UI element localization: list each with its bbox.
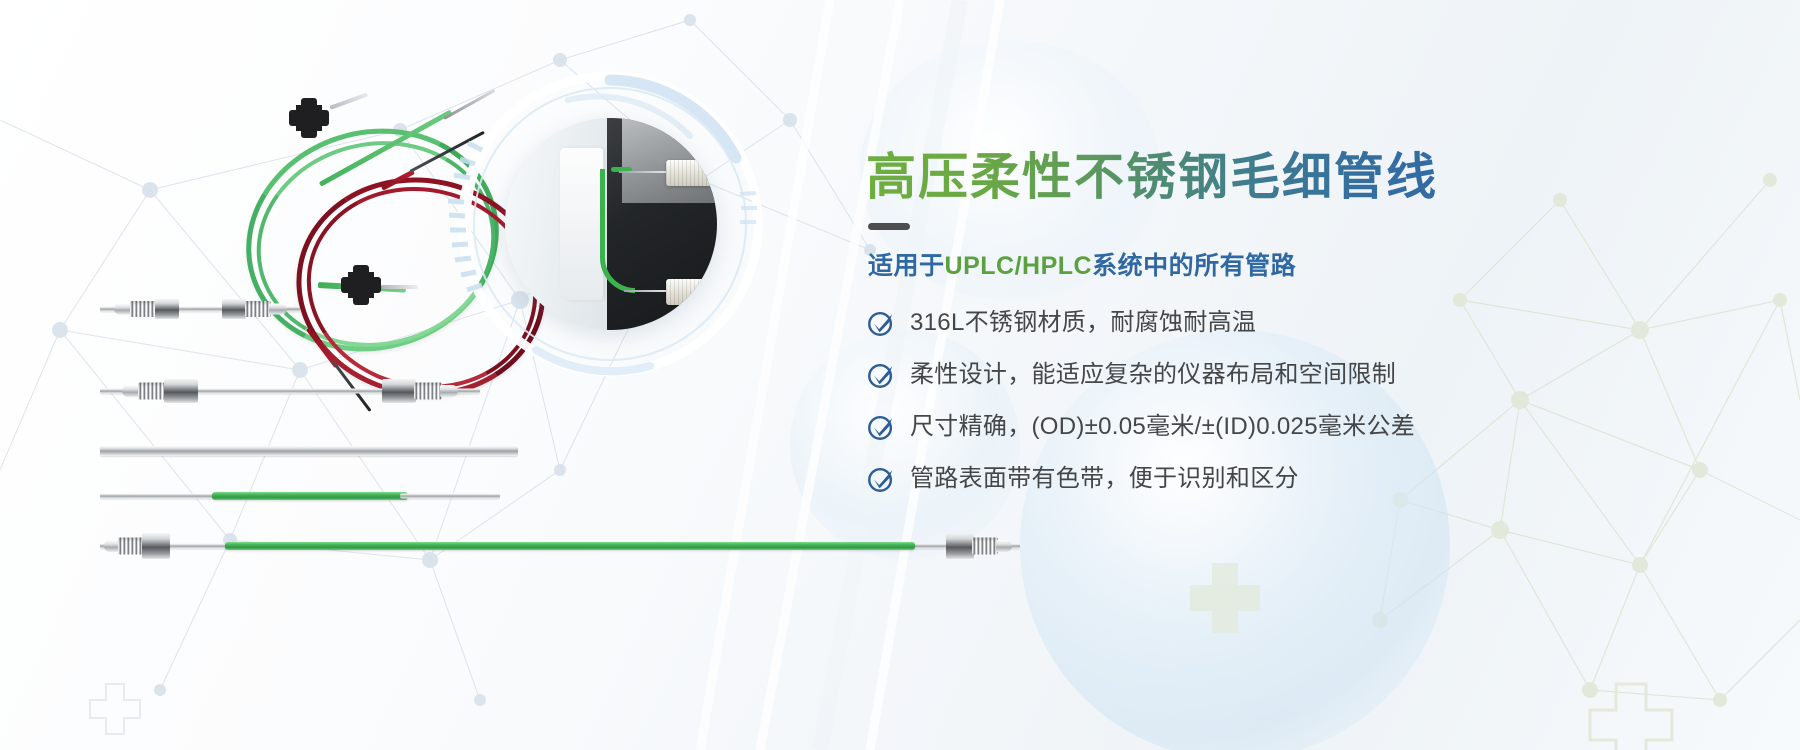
list-item: 柔性设计，能适应复杂的仪器布局和空间限制: [866, 358, 1746, 392]
green-band: [212, 492, 408, 500]
nut-left: [164, 379, 198, 403]
plus-mark-filled: [1190, 563, 1260, 633]
photo-green-tubing: [600, 169, 635, 293]
photo-content: [505, 118, 717, 330]
steel-stub-right: [382, 285, 418, 289]
nut-right: [946, 533, 974, 559]
check-circle-icon: [866, 464, 896, 494]
steel-end-right: [400, 494, 500, 499]
nut-right: [382, 379, 416, 403]
ferrule-right: [269, 304, 287, 315]
ferrule-right: [996, 540, 1012, 552]
steel-tube: [100, 446, 518, 456]
spring-right: [972, 538, 998, 555]
subtitle-highlight: UPLC/HPLC: [945, 252, 1093, 280]
product-bare-steel-tube: [100, 438, 518, 464]
subtitle-suffix: 系统中的所有管路: [1092, 252, 1296, 280]
feature-text: 316L不锈钢材质，耐腐蚀耐高温: [910, 308, 1256, 338]
photo-needle-top: [619, 171, 670, 173]
list-item: 管路表面带有色带，便于识别和区分: [866, 462, 1746, 496]
cross-fitting-right: [348, 272, 374, 298]
check-circle-icon: [866, 360, 896, 390]
banner-subtitle: 适用于UPLC/HPLC系统中的所有管路: [868, 246, 1746, 282]
product-green-banded-capillary-short: [100, 483, 500, 509]
nut-left: [142, 533, 170, 559]
steel-stub-top: [329, 92, 368, 109]
list-item: 尺寸精确，(OD)±0.05毫米/±(ID)0.025毫米公差: [866, 410, 1746, 444]
plus-mark-outline: [1590, 684, 1672, 750]
product-image-group: [0, 0, 780, 750]
feature-text: 柔性设计，能适应复杂的仪器布局和空间限制: [910, 360, 1396, 390]
spring-left: [138, 383, 166, 400]
steel-end-left: [100, 494, 218, 499]
subtitle-prefix: 适用于: [868, 252, 945, 280]
product-green-banded-capillary-fitted: [100, 533, 1020, 559]
page-title: 高压柔性不锈钢毛细管线: [866, 148, 1746, 207]
list-item: 316L不锈钢材质，耐腐蚀耐高温: [866, 306, 1746, 340]
title-divider: [868, 223, 910, 230]
product-long-fitted-capillary: [100, 378, 480, 404]
cross-fitting-top: [296, 105, 322, 131]
photo-needle-bottom: [624, 290, 671, 292]
spring-right: [414, 383, 442, 400]
green-band: [225, 542, 915, 550]
instrument-tubing-photo: [505, 118, 717, 330]
product-hero-banner: 高压柔性不锈钢毛细管线 适用于UPLC/HPLC系统中的所有管路 316L不锈钢…: [0, 0, 1800, 750]
product-short-fitted-capillary: [100, 296, 300, 322]
feature-list: 316L不锈钢材质，耐腐蚀耐高温 柔性设计，能适应复杂的仪器布局和空间限制 尺寸…: [866, 306, 1746, 496]
photo-instrument-panel: [560, 148, 602, 301]
spring-left: [130, 301, 156, 317]
photo-fitting-cap-top: [666, 160, 713, 185]
check-circle-icon: [866, 308, 896, 338]
spring-left: [118, 538, 144, 555]
photo-fitting-cap-bottom: [666, 279, 713, 304]
nut-left: [155, 299, 179, 319]
feature-text: 尺寸精确，(OD)±0.05毫米/±(ID)0.025毫米公差: [910, 412, 1415, 442]
spring-right: [245, 301, 271, 317]
check-circle-icon: [866, 412, 896, 442]
banner-text-content: 高压柔性不锈钢毛细管线 适用于UPLC/HPLC系统中的所有管路 316L不锈钢…: [866, 148, 1746, 514]
feature-text: 管路表面带有色带，便于识别和区分: [910, 464, 1299, 494]
nut-right: [222, 299, 246, 319]
